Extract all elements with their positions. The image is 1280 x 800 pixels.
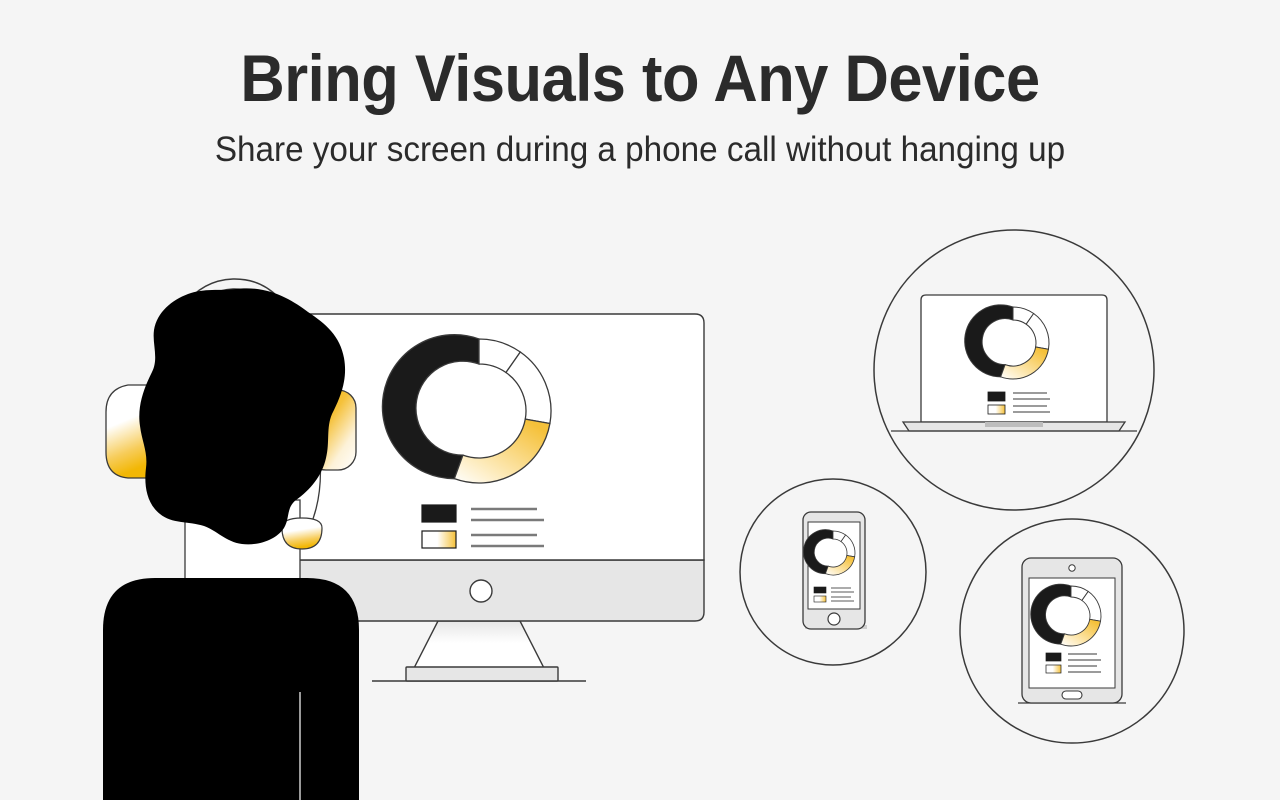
legend-swatch-2 bbox=[422, 531, 456, 548]
tablet-legend-swatch-2 bbox=[1046, 665, 1061, 673]
device-illustration bbox=[0, 0, 1280, 800]
monitor-stand bbox=[413, 621, 545, 670]
tablet-legend-swatch-1 bbox=[1046, 653, 1061, 661]
phone-legend-swatch-2 bbox=[814, 596, 826, 602]
monitor-base bbox=[406, 667, 558, 681]
legend-swatch-1 bbox=[422, 505, 456, 522]
device-badge-phone[interactable] bbox=[740, 479, 926, 665]
monitor-power-button[interactable] bbox=[470, 580, 492, 602]
laptop-trackpad-notch bbox=[985, 422, 1043, 427]
laptop-legend-swatch-1 bbox=[988, 392, 1005, 401]
device-badge-laptop[interactable] bbox=[874, 230, 1154, 510]
laptop-legend-swatch-2 bbox=[988, 405, 1005, 414]
presenter-body bbox=[103, 578, 359, 800]
tablet-home-button[interactable] bbox=[1062, 691, 1082, 699]
phone-home-button[interactable] bbox=[828, 613, 840, 625]
phone-legend-swatch-1 bbox=[814, 587, 826, 593]
tablet-camera-icon bbox=[1069, 565, 1075, 571]
device-badge-tablet[interactable] bbox=[960, 519, 1184, 743]
illustration-page: Bring Visuals to Any Device Share your s… bbox=[0, 0, 1280, 800]
headset-mic-tip bbox=[282, 518, 322, 549]
